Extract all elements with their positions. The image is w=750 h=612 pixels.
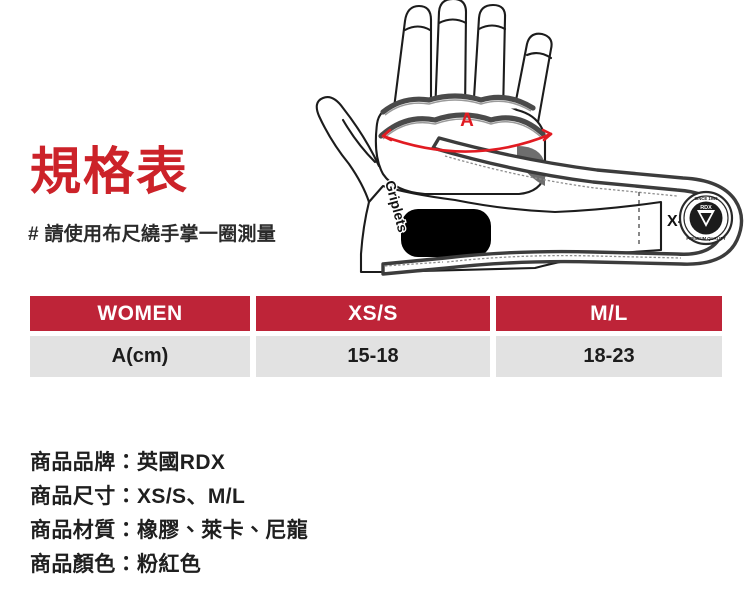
product-description-block: 商品品牌：英國RDX 商品尺寸：XS/S、M/L 商品材質：橡膠、萊卡、尼龍 商… [30, 446, 308, 582]
table-header-row: WOMEN XS/S M/L [30, 296, 722, 331]
description-material: 商品材質：橡膠、萊卡、尼龍 [30, 514, 308, 548]
table-header-women: WOMEN [30, 296, 250, 331]
page-title: 規格表 [30, 143, 189, 201]
table-header-xs-s: XS/S [256, 296, 490, 331]
rdx-badge-icon: RDX SINCE 1999 PREMIUM QUALITY [680, 192, 732, 244]
table-cell-m-l-value: 18-23 [496, 336, 722, 377]
svg-text:RDX: RDX [700, 205, 712, 211]
description-brand: 商品品牌：英國RDX [30, 446, 308, 480]
measure-instruction-note: # 請使用布尺繞手掌一圈測量 [28, 222, 276, 248]
measure-label-a: A [460, 110, 474, 131]
table-cell-measure-label: A(cm) [30, 336, 250, 377]
size-table: WOMEN XS/S M/L A(cm) 15-18 18-23 [30, 296, 722, 377]
svg-text:PREMIUM QUALITY: PREMIUM QUALITY [686, 236, 726, 241]
glove-illustration: .ln { fill:#ffffff; stroke:#1c1c1c; stro… [305, 0, 750, 281]
table-cell-xs-s-value: 15-18 [256, 336, 490, 377]
table-header-m-l: M/L [496, 296, 722, 331]
description-color: 商品顏色：粉紅色 [30, 548, 308, 582]
svg-text:SINCE 1999: SINCE 1999 [694, 196, 718, 201]
table-row: A(cm) 15-18 18-23 [30, 336, 722, 377]
description-size: 商品尺寸：XS/S、M/L [30, 480, 308, 514]
size-chart-page: 規格表 # 請使用布尺繞手掌一圈測量 .ln { fill:#ffffff; s… [0, 0, 750, 612]
